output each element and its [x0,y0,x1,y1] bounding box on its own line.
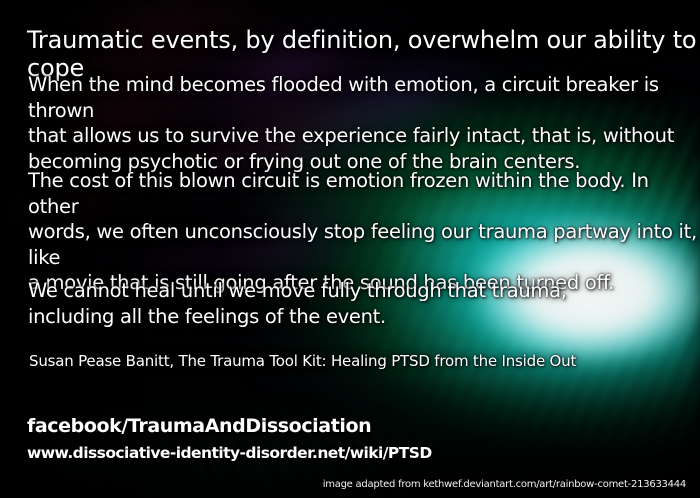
text-content-layer: Traumatic events, by definition, overwhe… [0,0,700,498]
quote-paragraph-3: We cannot heal until we move fully throu… [28,278,567,329]
quote-attribution: Susan Pease Banitt, The Trauma Tool Kit:… [29,352,576,371]
quote-poster: Traumatic events, by definition, overwhe… [0,0,700,498]
image-credit: image adapted from kethwef.deviantart.co… [323,479,686,490]
quote-paragraph-1: When the mind becomes flooded with emoti… [28,72,700,174]
website-url[interactable]: www.dissociative-identity-disorder.net/w… [27,444,432,462]
facebook-handle[interactable]: facebook/TraumaAndDissociation [27,415,371,437]
quote-paragraph-2: The cost of this blown circuit is emotio… [28,168,700,296]
